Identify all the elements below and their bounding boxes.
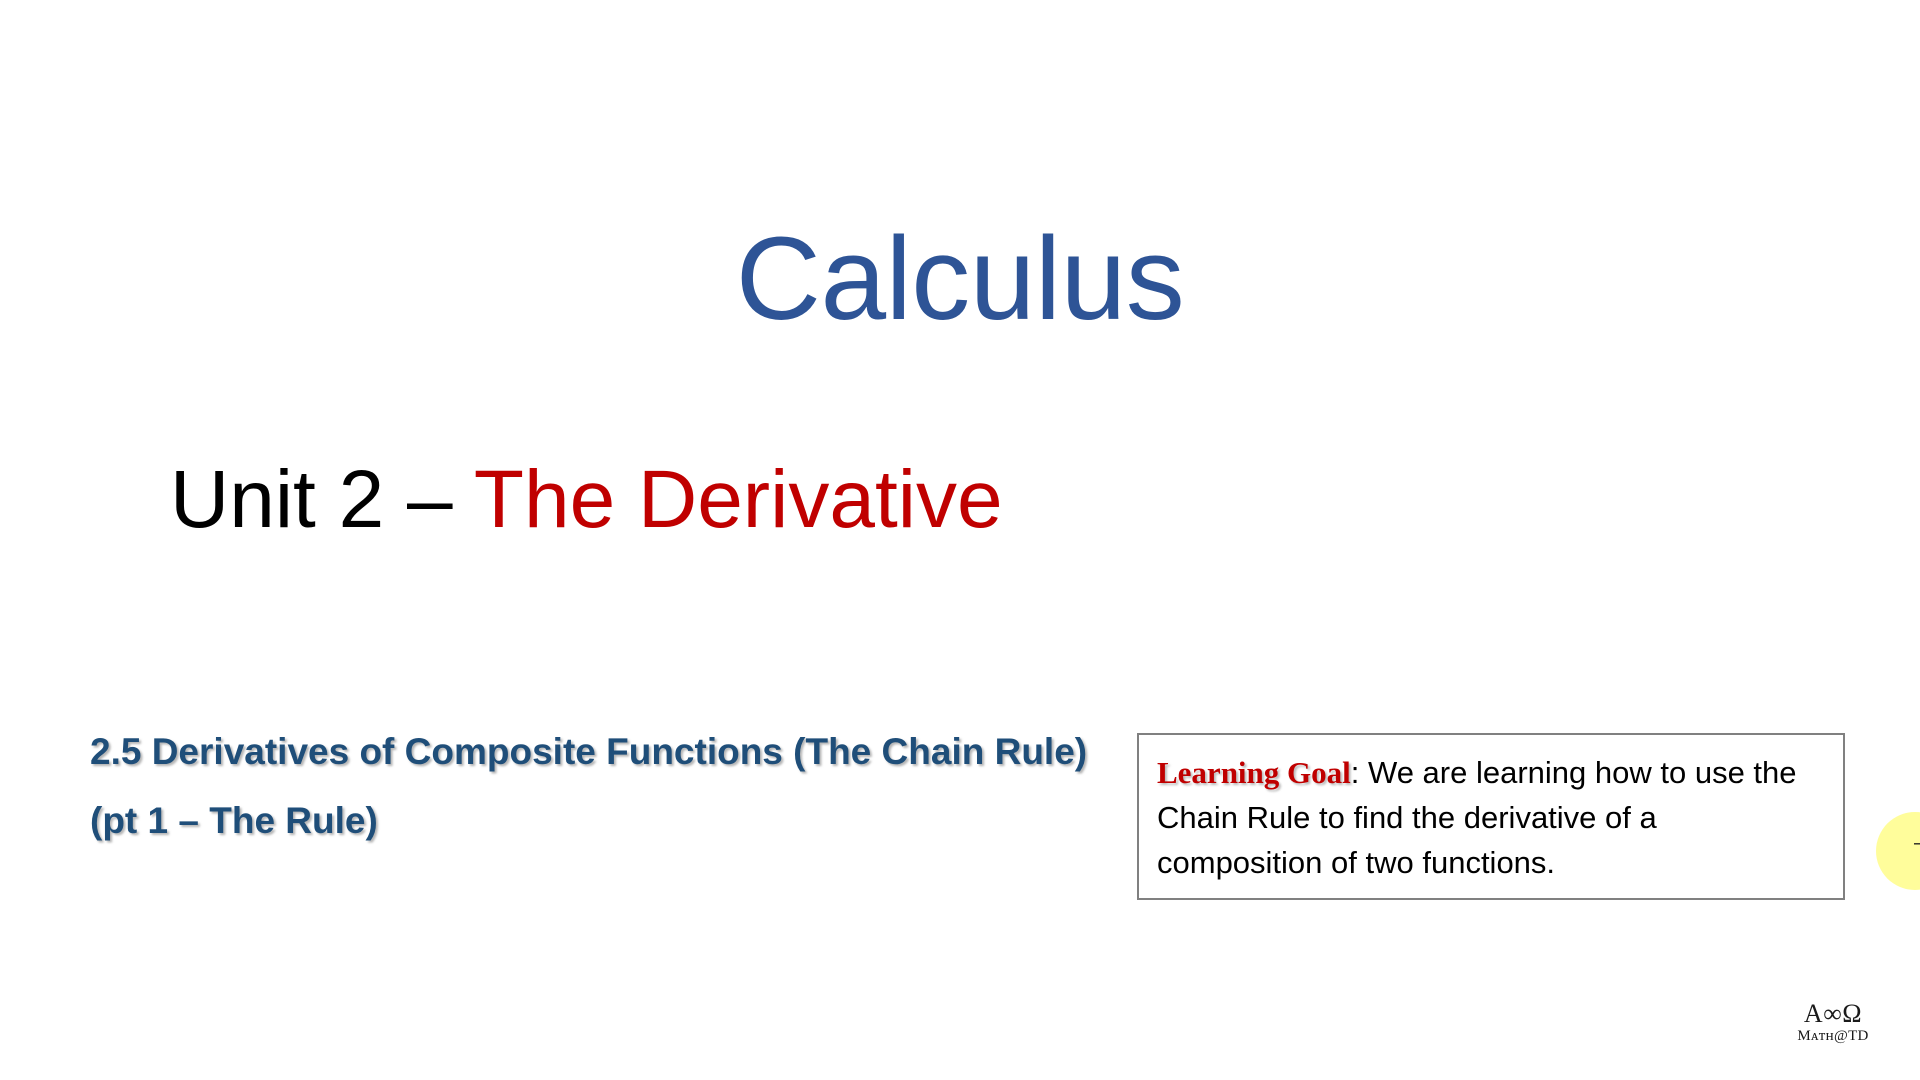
learning-goal-separator: : [1351, 755, 1368, 790]
logo-wordmark: Mᴀᴛʜ@TD [1778, 1028, 1888, 1045]
presentation-slide: Calculus Unit 2 – The Derivative 2.5 Der… [0, 0, 1920, 1080]
slide-subtitle: Unit 2 – The Derivative [170, 455, 1003, 545]
learning-goal-text: Learning Goal: We are learning how to us… [1157, 751, 1825, 886]
subtitle-accent: The Derivative [474, 454, 1003, 545]
brand-logo: A∞Ω Mᴀᴛʜ@TD [1778, 1000, 1888, 1045]
section-heading-line-1: 2.5 Derivatives of Composite Functions (… [90, 731, 1087, 772]
subtitle-prefix: Unit 2 – [170, 454, 474, 545]
logo-symbols: A∞Ω [1778, 1000, 1888, 1027]
section-heading: 2.5 Derivatives of Composite Functions (… [90, 728, 1120, 845]
learning-goal-label: Learning Goal [1157, 755, 1351, 790]
learning-goal-box: Learning Goal: We are learning how to us… [1137, 733, 1845, 900]
section-heading-line-2: (pt 1 – The Rule) [90, 797, 1120, 844]
yellow-highlight-marker[interactable]: ┐ [1876, 812, 1920, 890]
marker-glyph-icon: ┐ [1914, 834, 1920, 854]
page-title: Calculus [0, 218, 1920, 342]
